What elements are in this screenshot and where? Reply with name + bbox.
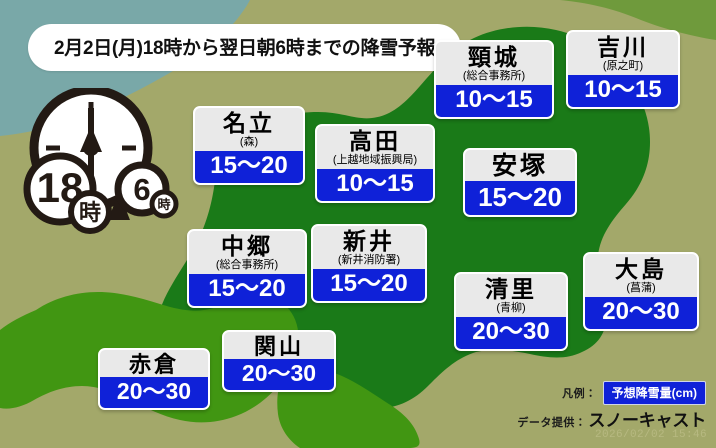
forecast-card-yasuzuka[interactable]: 安塚 15〜20 <box>463 148 577 217</box>
start-time-unit: 時 <box>79 200 101 225</box>
station-name: 新井 <box>313 226 425 254</box>
snowfall-value: 20〜30 <box>100 377 208 408</box>
forecast-card-nadachi[interactable]: 名立 (森) 15〜20 <box>193 106 305 185</box>
snowfall-value: 20〜30 <box>585 297 697 329</box>
forecast-card-kiyosato[interactable]: 清里 (青柳) 20〜30 <box>454 272 568 351</box>
clock-center-dot <box>83 140 99 156</box>
station-sub: (総合事務所) <box>189 259 305 274</box>
timestamp: 2026/02/02 15:46 <box>595 429 707 441</box>
snowfall-value: 15〜20 <box>189 274 305 306</box>
station-name: 清里 <box>456 274 566 302</box>
data-source: データ提供： スノーキャスト <box>517 406 706 431</box>
station-sub: (青柳) <box>456 302 566 317</box>
end-time-number: 6 <box>133 172 150 207</box>
legend-chip: 予想降雪量(cm) <box>603 381 706 405</box>
station-sub: (森) <box>195 136 303 151</box>
snowfall-value: 15〜20 <box>195 151 303 183</box>
station-sub: (原之町) <box>568 60 678 75</box>
clock-graphic: 18 時 6 時 <box>18 88 198 238</box>
clock-tick-3 <box>122 146 136 151</box>
snowfall-value: 20〜30 <box>224 359 334 390</box>
station-sub: (菖蒲) <box>585 282 697 297</box>
forecast-card-takada[interactable]: 高田 (上越地域振興局) 10〜15 <box>315 124 435 203</box>
snowfall-value: 20〜30 <box>456 317 566 349</box>
snowfall-value: 15〜20 <box>465 181 575 216</box>
snowfall-value: 15〜20 <box>313 269 425 301</box>
station-name: 頸城 <box>436 42 552 70</box>
station-name: 吉川 <box>568 32 678 60</box>
forecast-card-akakura[interactable]: 赤倉 20〜30 <box>98 348 210 410</box>
station-sub: (新井消防署) <box>313 254 425 269</box>
data-source-value: スノーキャスト <box>588 406 706 431</box>
station-name: 高田 <box>317 126 433 154</box>
station-name: 安塚 <box>465 150 575 181</box>
snowfall-value: 10〜15 <box>568 75 678 107</box>
weather-forecast-graphic: 2月2日(月)18時から翌日朝6時までの降雪予報 18 時 6 時 名立 (森) <box>0 0 716 448</box>
station-name: 大島 <box>585 254 697 282</box>
station-sub: (総合事務所) <box>436 70 552 85</box>
station-name: 関山 <box>224 332 334 359</box>
snowfall-value: 10〜15 <box>436 85 552 117</box>
forecast-card-sekiyama[interactable]: 関山 20〜30 <box>222 330 336 392</box>
forecast-card-yoshikawa[interactable]: 吉川 (原之町) 10〜15 <box>566 30 680 109</box>
legend-label: 凡例： <box>562 385 597 401</box>
station-name: 名立 <box>195 108 303 136</box>
station-sub: (上越地域振興局) <box>317 154 433 169</box>
clock-tick-9 <box>46 146 60 151</box>
station-name: 中郷 <box>189 231 305 259</box>
data-source-label: データ提供： <box>517 414 586 430</box>
forecast-card-nakago[interactable]: 中郷 (総合事務所) 15〜20 <box>187 229 307 308</box>
end-time-unit: 時 <box>157 197 170 212</box>
snowfall-value: 10〜15 <box>317 169 433 201</box>
forecast-card-kubiki[interactable]: 頸城 (総合事務所) 10〜15 <box>434 40 554 119</box>
legend: 凡例： 予想降雪量(cm) <box>562 381 706 405</box>
page-title: 2月2日(月)18時から翌日朝6時までの降雪予報 <box>28 24 461 71</box>
station-name: 赤倉 <box>100 350 208 377</box>
forecast-card-oshima[interactable]: 大島 (菖蒲) 20〜30 <box>583 252 699 331</box>
forecast-card-arai[interactable]: 新井 (新井消防署) 15〜20 <box>311 224 427 303</box>
